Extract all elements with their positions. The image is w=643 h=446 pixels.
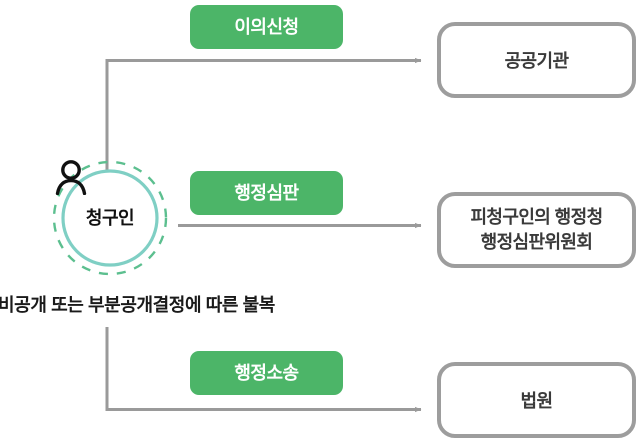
node-label-group: 피청구인의 행정청 행정심판위원회 <box>470 207 602 252</box>
person-icon <box>51 159 91 195</box>
action-pill-administrative-appeal[interactable]: 행정심판 <box>190 171 343 215</box>
action-pill-administrative-litigation[interactable]: 행정소송 <box>190 351 343 395</box>
node-court[interactable]: 법원 <box>437 362 636 438</box>
diagram-caption: 비공개 또는 부분공개결정에 따른 불복 <box>0 291 275 317</box>
node-administrative-appeals-commission[interactable]: 피청구인의 행정청 행정심판위원회 <box>437 192 636 268</box>
node-label-line-2: 행정심판위원회 <box>470 232 602 253</box>
node-label: 공공기관 <box>505 47 569 73</box>
node-public-institution[interactable]: 공공기관 <box>437 22 636 98</box>
diagram-canvas: 청구인 이의신청 행정심판 행정소송 공공기관 피청구인의 행정청 행정심판위원… <box>0 0 643 446</box>
node-label-line-1: 피청구인의 행정청 <box>470 207 602 228</box>
connector-objection <box>107 61 421 171</box>
action-pill-label: 이의신청 <box>234 18 298 36</box>
actor-label: 청구인 <box>86 209 134 227</box>
action-pill-label: 행정소송 <box>234 364 298 382</box>
action-pill-label: 행정심판 <box>234 184 298 202</box>
actor-claimant: 청구인 <box>51 159 169 277</box>
node-label: 법원 <box>521 387 553 413</box>
action-pill-objection[interactable]: 이의신청 <box>190 5 343 49</box>
